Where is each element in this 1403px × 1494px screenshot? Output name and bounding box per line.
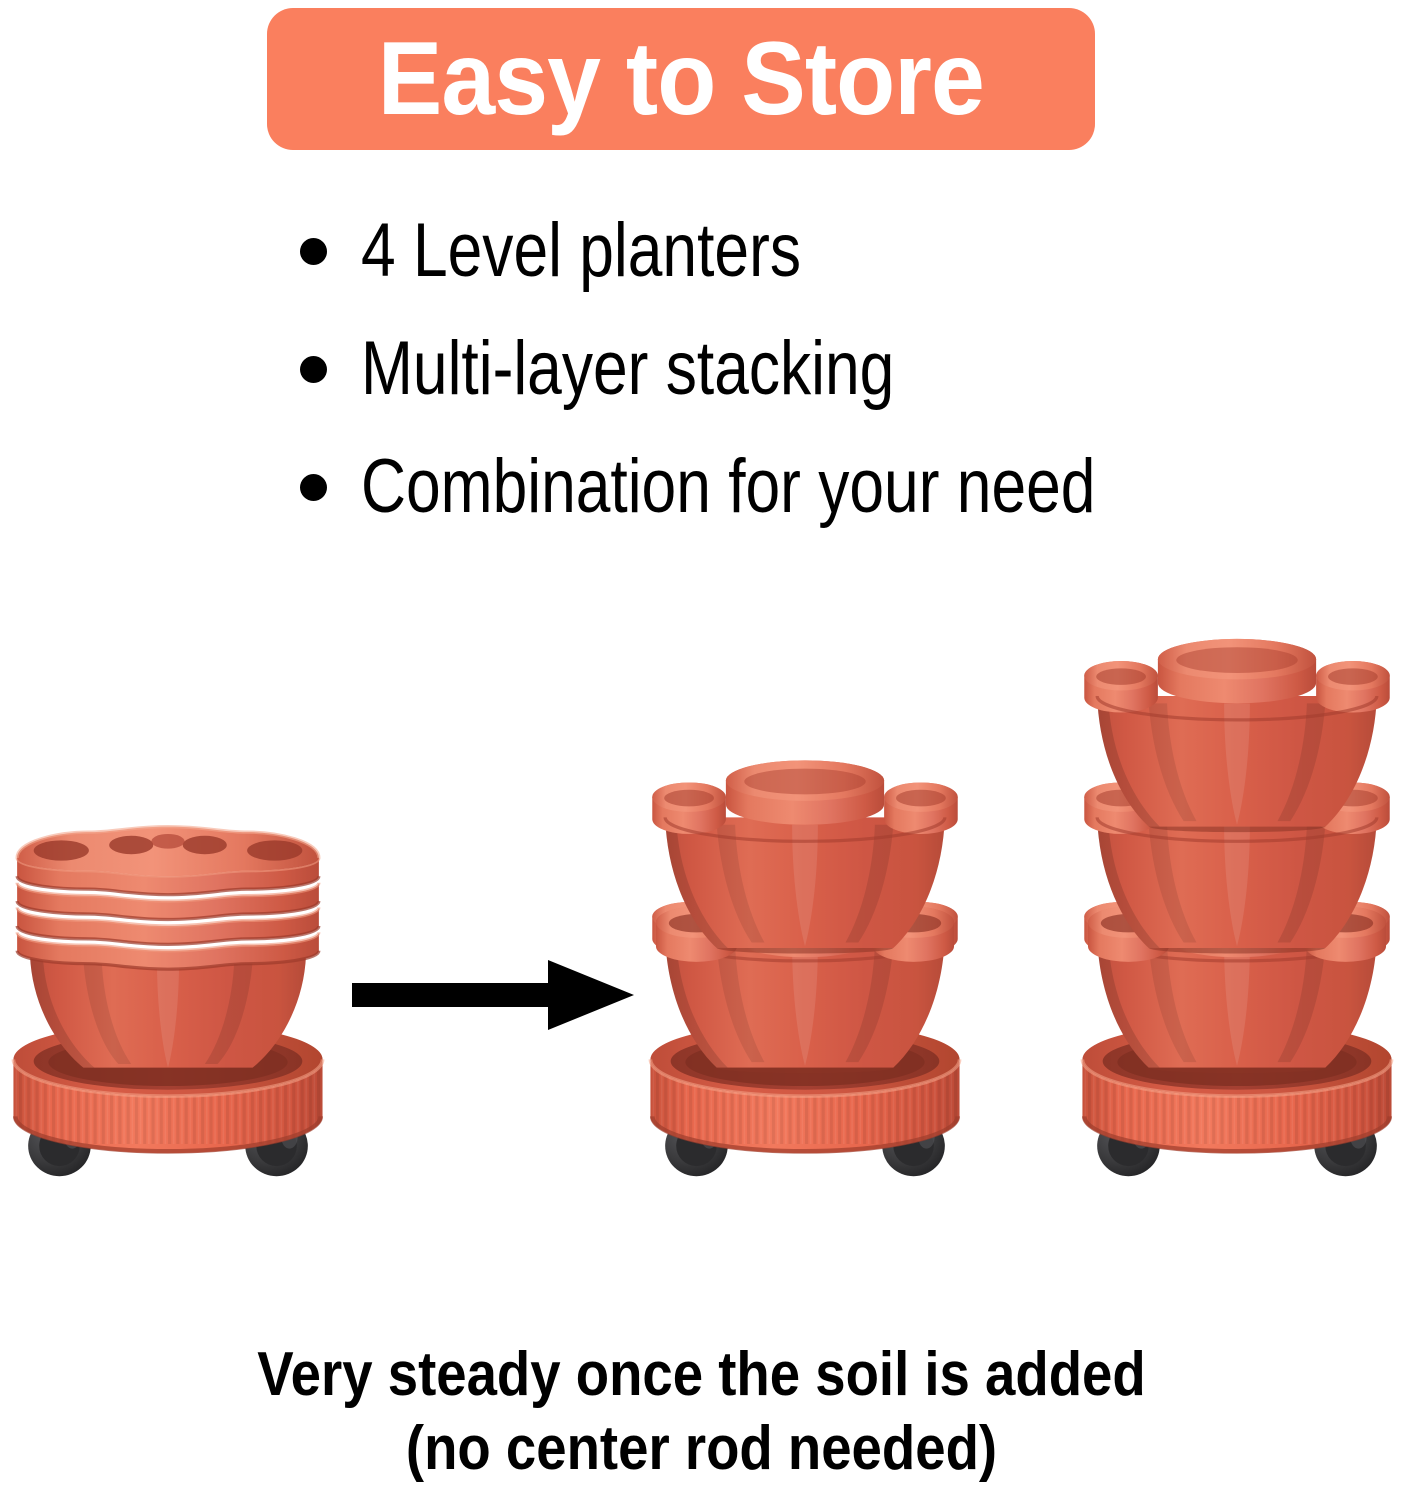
planter-tier [1084,639,1389,832]
list-item: 4 Level planters [300,192,1360,310]
feature-label: 4 Level planters [361,213,801,289]
caption-block: Very steady once the soil is added (no c… [0,1338,1403,1486]
feature-label: Combination for your need [361,449,1095,525]
planter-tier [652,760,957,953]
product-illustration [0,615,1403,1265]
bullet-dot-icon [300,238,327,265]
header-badge: Easy to Store [267,8,1095,150]
nested-planters-group [13,827,322,1177]
bullet-dot-icon [300,474,327,501]
two-tier-stack-group [650,760,959,1176]
three-tier-stack-group [1082,639,1391,1176]
top-lobed-rim [17,827,319,877]
list-item: Multi-layer stacking [300,310,1360,428]
flow-arrow-icon [352,952,634,1038]
planter-body [30,955,306,1067]
bullet-dot-icon [300,356,327,383]
caption-line-1: Very steady once the soil is added [84,1338,1319,1412]
page-title: Easy to Store [378,27,984,131]
list-item: Combination for your need [300,428,1360,546]
feature-label: Multi-layer stacking [361,331,894,407]
caption-line-2: (no center rod needed) [84,1412,1319,1486]
feature-list: 4 Level planters Multi-layer stacking Co… [300,192,1360,546]
